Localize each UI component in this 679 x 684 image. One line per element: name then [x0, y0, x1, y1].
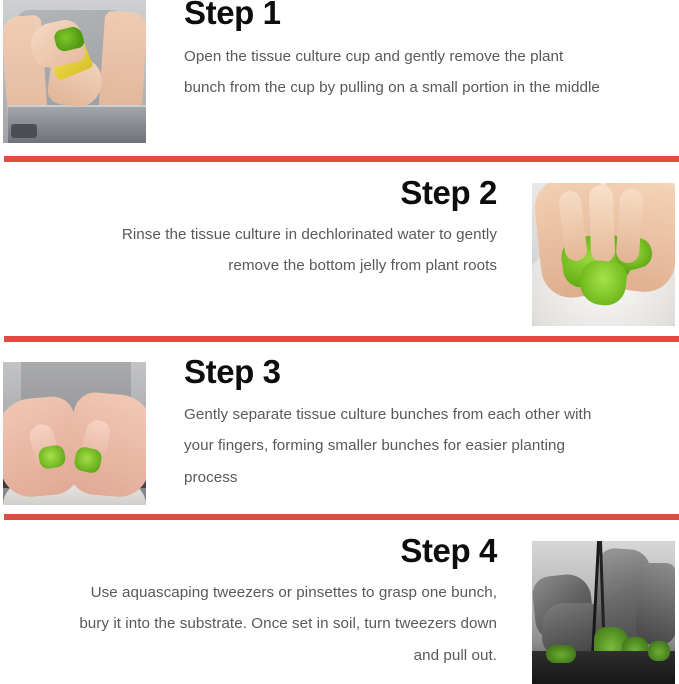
step-3-title: Step 3: [184, 355, 609, 388]
step-4-description: Use aquascaping tweezers or pinsettes to…: [70, 577, 497, 671]
step-1-text-block: Step 1 Open the tissue culture cup and g…: [146, 0, 679, 104]
step-3-description: Gently separate tissue culture bunches f…: [184, 399, 609, 493]
step-2-description: Rinse the tissue culture in dechlorinate…: [70, 219, 497, 282]
step-4-photo: [532, 541, 675, 684]
step-row-3: Step 3 Gently separate tissue culture bu…: [0, 342, 679, 514]
step-4-title: Step 4: [70, 534, 497, 567]
step-1-photo: [3, 0, 146, 143]
photo-planted-bunch-3: [546, 645, 576, 663]
step-row-4: Step 4 Use aquascaping tweezers or pinse…: [0, 520, 679, 678]
photo-belt: [11, 124, 37, 138]
step-1-title: Step 1: [184, 0, 609, 29]
steps-infographic: Step 1 Open the tissue culture cup and g…: [0, 0, 679, 678]
step-3-photo: [3, 362, 146, 505]
step-row-1: Step 1 Open the tissue culture cup and g…: [0, 0, 679, 156]
step-3-text-block: Step 3 Gently separate tissue culture bu…: [146, 342, 679, 493]
step-1-description: Open the tissue culture cup and gently r…: [184, 41, 609, 104]
step-2-text-block: Step 2 Rinse the tissue culture in dechl…: [0, 162, 532, 282]
photo-planted-bunch-4: [648, 641, 670, 661]
step-2-photo: [532, 183, 675, 326]
photo-finger-2: [589, 185, 616, 264]
step-4-text-block: Step 4 Use aquascaping tweezers or pinse…: [0, 520, 532, 671]
step-2-title: Step 2: [70, 176, 497, 209]
step-row-2: Step 2 Rinse the tissue culture in dechl…: [0, 162, 679, 336]
photo-rock-right: [636, 563, 675, 645]
